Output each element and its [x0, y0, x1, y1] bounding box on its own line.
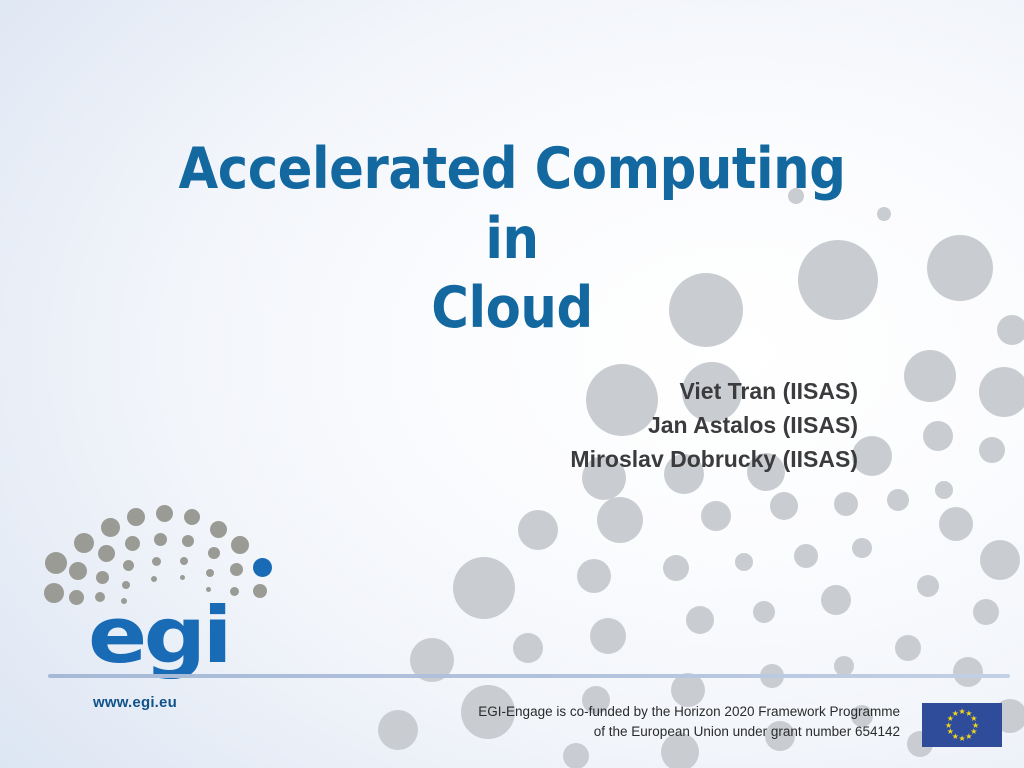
egi-logo-dot [156, 505, 173, 522]
website-url[interactable]: www.egi.eu [93, 694, 177, 711]
egi-logo-accent-dot [253, 558, 272, 577]
egi-logo-dot [154, 533, 167, 546]
egi-logo-dot [210, 521, 227, 538]
bubble [518, 510, 558, 550]
egi-logo-dot [122, 581, 130, 589]
bubble [887, 489, 909, 511]
bubble [513, 633, 543, 663]
bubble [997, 315, 1024, 345]
eu-flag-star: ★ [965, 733, 972, 740]
bubble [980, 540, 1020, 580]
bubble [753, 601, 775, 623]
bubble [834, 656, 854, 676]
bubble [852, 538, 872, 558]
egi-logo-dot [184, 509, 200, 525]
funding-line: of the European Union under grant number… [420, 722, 900, 742]
egi-logo-dot [127, 508, 145, 526]
egi-logo-dot [151, 576, 157, 582]
eu-flag-star: ★ [952, 710, 959, 717]
egi-logo: egi [48, 505, 263, 665]
bubble [927, 235, 993, 301]
bubble [979, 367, 1024, 417]
bubble [939, 507, 973, 541]
egi-logo-dot [230, 587, 239, 596]
bubble [770, 492, 798, 520]
presentation-slide: Accelerated Computing in Cloud Viet Tran… [0, 0, 1024, 768]
egi-logo-dot [96, 571, 109, 584]
bubble [904, 350, 956, 402]
bubble [953, 657, 983, 687]
egi-logo-dot [74, 533, 94, 553]
bubble [597, 497, 643, 543]
bubble [590, 618, 626, 654]
funding-line: EGI-Engage is co-funded by the Horizon 2… [420, 702, 900, 722]
egi-logo-dot [69, 590, 84, 605]
egi-logo-dot [101, 518, 120, 537]
bubble [895, 635, 921, 661]
bubble [663, 555, 689, 581]
bubble [852, 436, 892, 476]
bubble [979, 437, 1005, 463]
eu-flag-star: ★ [959, 735, 966, 742]
bubble [794, 544, 818, 568]
bubble [923, 421, 953, 451]
egi-logo-dot [98, 545, 115, 562]
egi-logo-dot [44, 583, 64, 603]
egi-logo-dot [231, 536, 249, 554]
bubble [686, 606, 714, 634]
egi-logo-dot [123, 560, 134, 571]
egi-logo-dot [125, 536, 140, 551]
author-name: Viet Tran (IISAS) [570, 374, 858, 408]
bubble [701, 501, 731, 531]
author-name: Miroslav Dobrucky (IISAS) [570, 442, 858, 476]
bubble [453, 557, 515, 619]
egi-logo-dot [152, 557, 161, 566]
egi-logo-dot [180, 575, 185, 580]
egi-logo-dot [45, 552, 67, 574]
egi-logo-dot [182, 535, 194, 547]
bubble [877, 207, 891, 221]
bubble [834, 492, 858, 516]
bubble [821, 585, 851, 615]
footer-divider [48, 674, 1010, 678]
egi-logo-dot [253, 584, 267, 598]
egi-logo-dot [206, 569, 214, 577]
european-union-flag-icon: ★★★★★★★★★★★★ [922, 703, 1002, 747]
egi-logo-dot [230, 563, 243, 576]
bubble [935, 481, 953, 499]
bubble [973, 599, 999, 625]
egi-logo-dot [180, 557, 188, 565]
author-name: Jan Astalos (IISAS) [570, 408, 858, 442]
bubble [735, 553, 753, 571]
bubble [917, 575, 939, 597]
egi-logo-dot [208, 547, 220, 559]
egi-logo-dot [69, 562, 87, 580]
bubble [378, 710, 418, 750]
egi-wordmark: egi [88, 597, 229, 675]
bubble [577, 559, 611, 593]
author-list: Viet Tran (IISAS)Jan Astalos (IISAS)Miro… [570, 374, 858, 476]
funding-statement: EGI-Engage is co-funded by the Horizon 2… [420, 702, 900, 741]
page-title: Accelerated Computing in Cloud [152, 135, 872, 344]
bubble [563, 743, 589, 768]
